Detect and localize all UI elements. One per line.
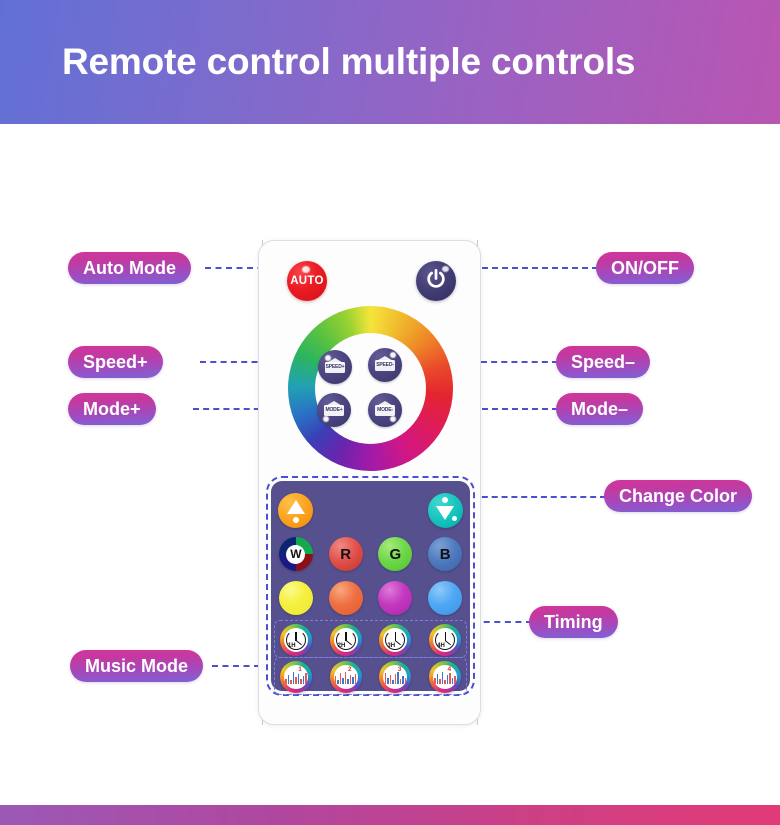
gloss-highlight: [325, 355, 331, 361]
color-wheel[interactable]: SPEED+ SPEED- MODE+: [288, 306, 453, 471]
music-row: 1 2 3: [271, 658, 470, 696]
callout-speed-minus[interactable]: Speed–: [556, 346, 650, 378]
callout-music-mode[interactable]: Music Mode: [70, 650, 203, 682]
music-mode-4-button[interactable]: 4: [429, 661, 461, 693]
clock-icon: 1H: [284, 628, 308, 652]
gloss-highlight: [442, 266, 449, 272]
auto-button[interactable]: AUTO: [287, 261, 327, 301]
timer-4h-button[interactable]: 4H: [429, 624, 461, 656]
button-roof-shape: [324, 401, 344, 407]
music-mode-1-button[interactable]: 1: [280, 661, 312, 693]
keypad-panel: W R G B: [271, 481, 470, 691]
leader-change-color: [472, 496, 606, 498]
white-button[interactable]: W: [279, 537, 313, 571]
speed-plus-button[interactable]: SPEED+: [318, 350, 352, 384]
music-mode-2-button[interactable]: 2: [330, 661, 362, 693]
brightness-down-button[interactable]: [428, 493, 463, 528]
page-root: Remote control multiple controls Auto Mo…: [0, 0, 780, 825]
footer-banner: [0, 805, 780, 825]
color-button-yellow[interactable]: [279, 581, 313, 615]
equalizer-icon: 2: [334, 665, 358, 689]
color-button-magenta[interactable]: [378, 581, 412, 615]
gloss-highlight: [390, 352, 396, 358]
equalizer-icon: 3: [383, 665, 407, 689]
page-title: Remote control multiple controls: [62, 41, 635, 83]
triangle-up-icon: [287, 500, 305, 514]
timer-3h-button[interactable]: 3H: [379, 624, 411, 656]
button-roof-shape: [375, 401, 395, 407]
timer-row: 1H 2H 3H: [271, 621, 470, 659]
brightness-up-button[interactable]: [278, 493, 313, 528]
mode-minus-button[interactable]: MODE-: [368, 393, 402, 427]
mode-plus-button[interactable]: MODE+: [317, 393, 351, 427]
header-banner: Remote control multiple controls: [0, 0, 780, 124]
color-button-orange[interactable]: [329, 581, 363, 615]
gloss-highlight: [323, 416, 329, 422]
music-mode-3-button[interactable]: 3: [379, 661, 411, 693]
brightness-row: [271, 489, 470, 531]
gloss-highlight: [302, 266, 310, 273]
callout-on-off[interactable]: ON/OFF: [596, 252, 694, 284]
color-row: [271, 577, 470, 619]
clock-icon: 4H: [433, 628, 457, 652]
white-button-label: W: [286, 545, 305, 564]
equalizer-icon: 4: [433, 665, 457, 689]
color-button-lightblue[interactable]: [428, 581, 462, 615]
remote-control-body: AUTO SPEED+: [258, 240, 481, 725]
timer-1h-button[interactable]: 1H: [280, 624, 312, 656]
equalizer-icon: 1: [284, 665, 308, 689]
timer-2h-button[interactable]: 2H: [330, 624, 362, 656]
auto-button-label: AUTO: [290, 275, 324, 287]
dot-icon: [452, 516, 457, 521]
dot-icon: [293, 517, 299, 523]
sun-icon: [442, 497, 448, 503]
blue-button[interactable]: B: [428, 537, 462, 571]
callout-mode-plus[interactable]: Mode+: [68, 393, 156, 425]
callout-speed-plus[interactable]: Speed+: [68, 346, 163, 378]
speed-minus-button[interactable]: SPEED-: [368, 348, 402, 382]
callout-change-color[interactable]: Change Color: [604, 480, 752, 512]
power-button[interactable]: [416, 261, 456, 301]
clock-icon: 3H: [383, 628, 407, 652]
clock-icon: 2H: [334, 628, 358, 652]
callout-auto-mode[interactable]: Auto Mode: [68, 252, 191, 284]
rgb-row: W R G B: [271, 533, 470, 575]
callout-mode-minus[interactable]: Mode–: [556, 393, 643, 425]
gloss-highlight: [390, 416, 396, 422]
red-button[interactable]: R: [329, 537, 363, 571]
callout-timing[interactable]: Timing: [529, 606, 618, 638]
green-button[interactable]: G: [378, 537, 412, 571]
